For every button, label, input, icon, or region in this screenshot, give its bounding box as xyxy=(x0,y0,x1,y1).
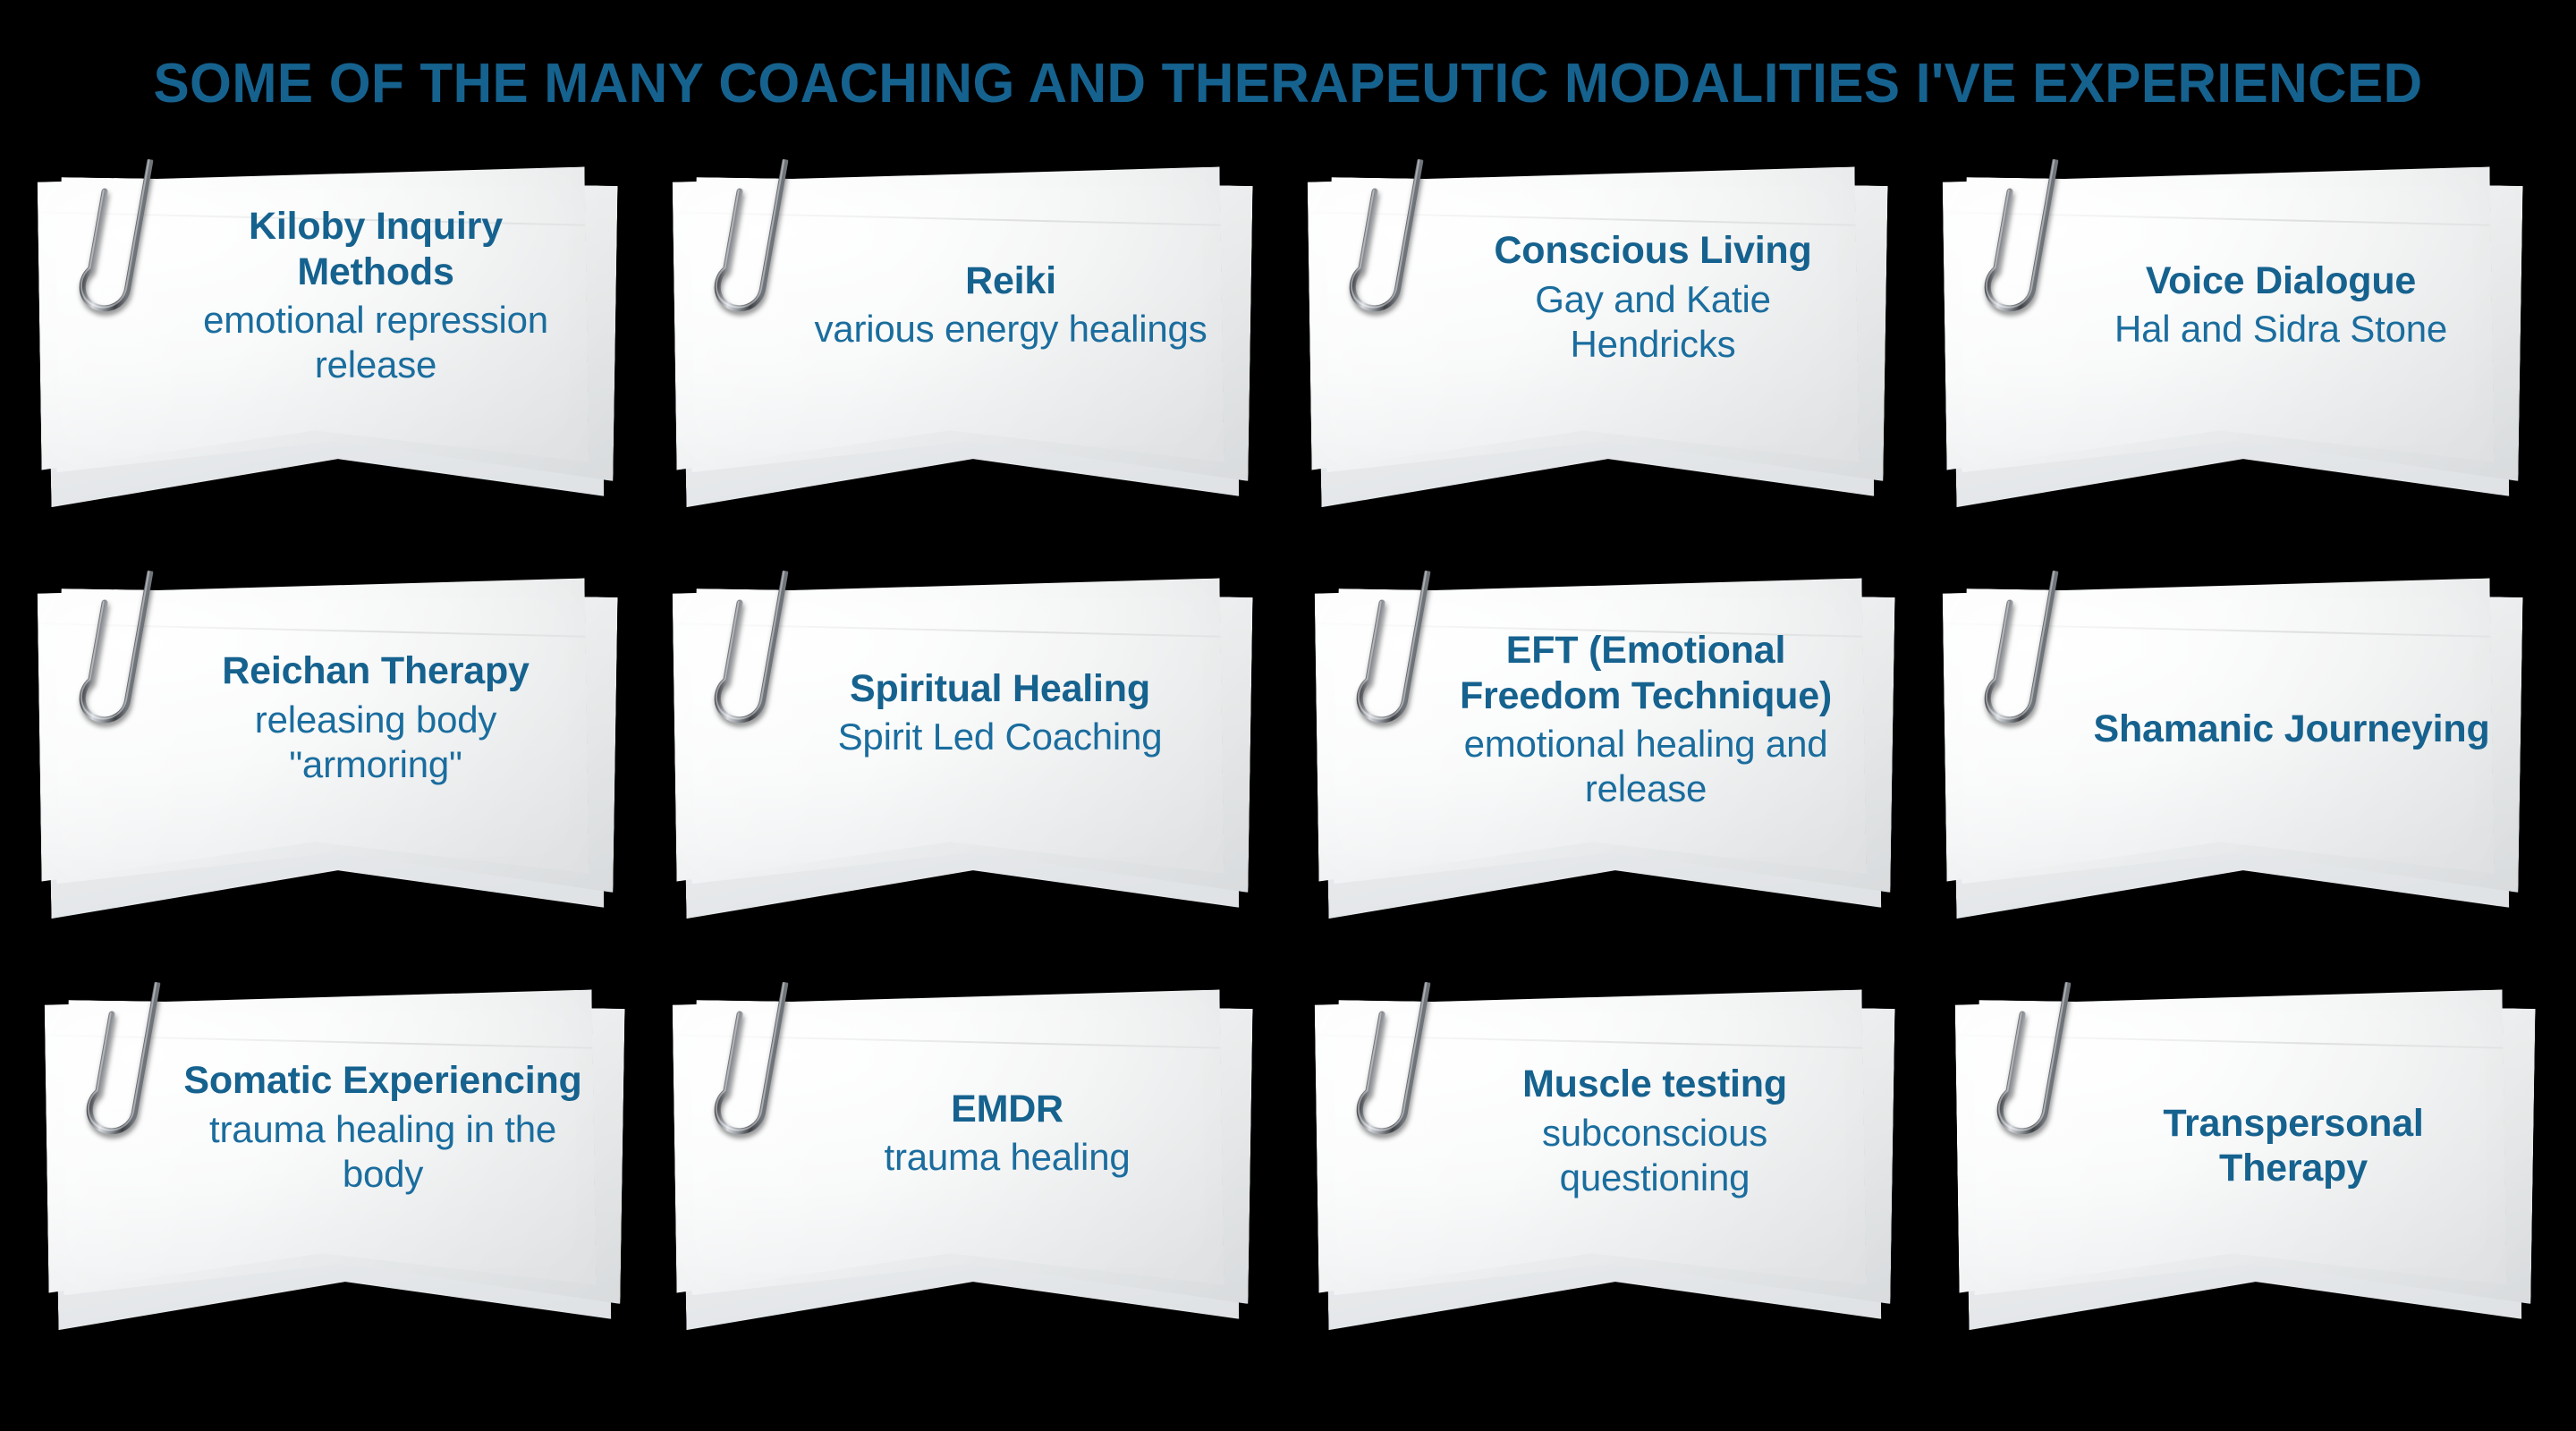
list-item[interactable]: EFT (Emotional Freedom Technique) emotio… xyxy=(1293,577,1928,988)
card-title: Reichan Therapy xyxy=(222,648,530,693)
card-text: Voice Dialogue Hal and Sidra Stone xyxy=(2079,171,2483,455)
note-card[interactable]: EMDR trauma healing xyxy=(674,994,1243,1320)
card-title: Transpersonal Therapy xyxy=(2091,1101,2495,1191)
list-item[interactable]: EMDR trauma healing xyxy=(658,988,1293,1400)
card-subtitle: Spirit Led Coaching xyxy=(838,715,1163,759)
card-title: Spiritual Healing xyxy=(850,666,1150,711)
card-title: Shamanic Journeying xyxy=(2093,707,2489,751)
card-text: Reiki various energy healings xyxy=(809,171,1213,455)
list-item[interactable]: Shamanic Journeying xyxy=(1928,577,2563,988)
note-card[interactable]: Somatic Experiencing trauma healing in t… xyxy=(47,994,615,1320)
card-subtitle: releasing body "armoring" xyxy=(174,698,578,788)
list-item[interactable]: Reichan Therapy releasing body "armoring… xyxy=(23,577,658,988)
note-card[interactable]: Shamanic Journeying xyxy=(1945,582,2513,909)
poster-root: SOME OF THE MANY COACHING AND THERAPEUTI… xyxy=(0,0,2576,1431)
card-text: Reichan Therapy releasing body "armoring… xyxy=(174,584,578,868)
list-item[interactable]: Somatic Experiencing trauma healing in t… xyxy=(23,988,658,1400)
card-text: EFT (Emotional Freedom Technique) emotio… xyxy=(1444,586,1848,870)
note-card[interactable]: Voice Dialogue Hal and Sidra Stone xyxy=(1945,171,2513,497)
card-subtitle: trauma healing xyxy=(884,1135,1130,1180)
card-text: Muscle testing subconscious questioning xyxy=(1453,997,1857,1282)
list-item[interactable]: Transpersonal Therapy xyxy=(1928,988,2563,1400)
card-subtitle: emotional repression release xyxy=(174,298,578,388)
card-subtitle: emotional healing and release xyxy=(1444,722,1848,812)
card-title: Kiloby Inquiry Methods xyxy=(174,204,578,294)
note-card[interactable]: Reichan Therapy releasing body "armoring… xyxy=(39,582,608,909)
page-title: SOME OF THE MANY COACHING AND THERAPEUTI… xyxy=(38,52,2538,115)
list-item[interactable]: Conscious Living Gay and Katie Hendricks xyxy=(1293,165,1928,577)
card-text: Somatic Experiencing trauma healing in t… xyxy=(181,994,585,1278)
card-title: Voice Dialogue xyxy=(2146,258,2416,303)
list-item[interactable]: Kiloby Inquiry Methods emotional repress… xyxy=(23,165,658,577)
list-item[interactable]: Voice Dialogue Hal and Sidra Stone xyxy=(1928,165,2563,577)
card-text: Transpersonal Therapy xyxy=(2091,1012,2495,1296)
note-card[interactable]: Reiki various energy healings xyxy=(674,171,1243,497)
list-item[interactable]: Reiki various energy healings xyxy=(658,165,1293,577)
card-text: Kiloby Inquiry Methods emotional repress… xyxy=(174,162,578,446)
card-text: Conscious Living Gay and Katie Hendricks xyxy=(1451,164,1855,448)
note-card[interactable]: EFT (Emotional Freedom Technique) emotio… xyxy=(1317,582,1885,909)
card-title: EMDR xyxy=(951,1087,1063,1131)
note-card[interactable]: Conscious Living Gay and Katie Hendricks xyxy=(1309,171,1878,497)
card-title: Reiki xyxy=(965,258,1056,303)
card-subtitle: Gay and Katie Hendricks xyxy=(1451,277,1855,368)
card-title: Somatic Experiencing xyxy=(183,1058,581,1103)
card-subtitle: various energy healings xyxy=(814,307,1207,351)
modality-card-grid: Kiloby Inquiry Methods emotional repress… xyxy=(23,165,2558,1400)
card-title: Muscle testing xyxy=(1522,1062,1787,1106)
note-card[interactable]: Kiloby Inquiry Methods emotional repress… xyxy=(39,171,608,497)
card-subtitle: subconscious questioning xyxy=(1453,1111,1857,1201)
card-text: Spiritual Healing Spirit Led Coaching xyxy=(798,579,1202,863)
note-card[interactable]: Transpersonal Therapy xyxy=(1957,994,2526,1320)
card-text: Shamanic Journeying xyxy=(2089,595,2494,879)
card-title: Conscious Living xyxy=(1494,228,1811,273)
note-card[interactable]: Muscle testing subconscious questioning xyxy=(1317,994,1885,1320)
card-subtitle: trauma healing in the body xyxy=(181,1107,585,1198)
list-item[interactable]: Muscle testing subconscious questioning xyxy=(1293,988,1928,1400)
card-subtitle: Hal and Sidra Stone xyxy=(2114,307,2447,351)
card-text: EMDR trauma healing xyxy=(805,999,1209,1283)
card-title: EFT (Emotional Freedom Technique) xyxy=(1444,628,1848,718)
note-card[interactable]: Spiritual Healing Spirit Led Coaching xyxy=(674,582,1243,909)
list-item[interactable]: Spiritual Healing Spirit Led Coaching xyxy=(658,577,1293,988)
